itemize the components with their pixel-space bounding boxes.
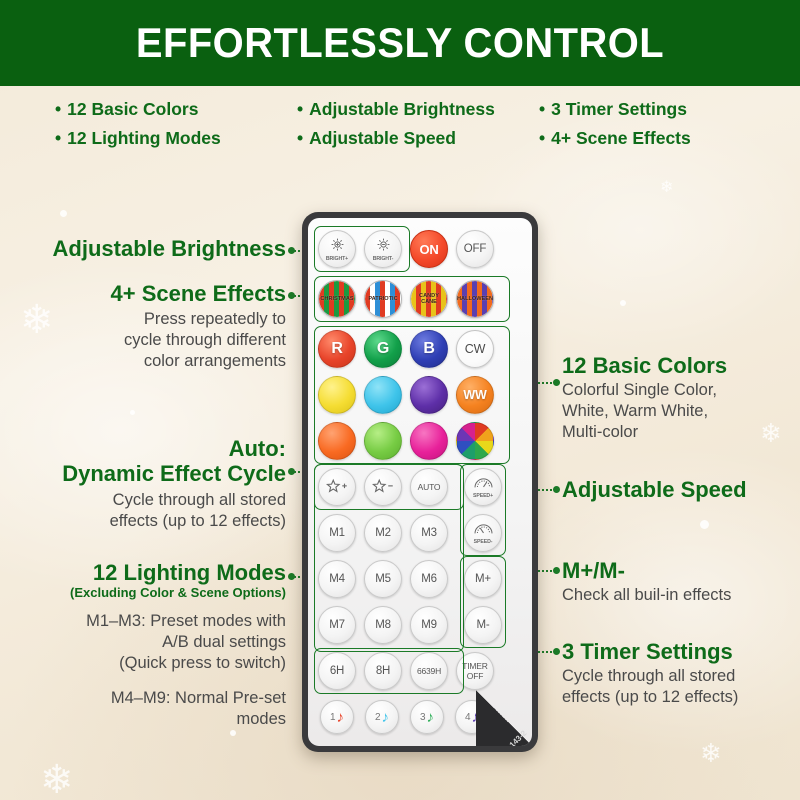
color-multicolor-button[interactable] — [456, 422, 494, 460]
feature-column: •3 Timer Settings •4+ Scene Effects — [521, 95, 763, 165]
power-off-button[interactable]: OFF — [456, 230, 494, 268]
snow-speck — [230, 730, 236, 736]
modes-row-3: M7 M8 M9 — [318, 606, 448, 644]
connector-dot — [553, 379, 560, 386]
feature-label: 12 Lighting Modes — [67, 128, 221, 148]
bullet-icon: • — [539, 128, 545, 148]
color-green-label: G — [377, 340, 389, 358]
annotation-body: Colorful Single Color, White, Warm White… — [562, 380, 798, 443]
memory-minus-label: M- — [476, 619, 489, 631]
annotation-scene-effects: 4+ Scene Effects Press repeatedly to cyc… — [20, 281, 286, 372]
gauge-down-icon — [473, 522, 494, 538]
bullet-icon: • — [297, 99, 303, 119]
color-cool-white-label: CW — [465, 342, 485, 356]
color-red-label: R — [331, 340, 342, 358]
color-cyan-button[interactable] — [364, 376, 402, 414]
connector-dot — [553, 567, 560, 574]
auto-label: AUTO — [418, 482, 441, 492]
mode-m4-label: M4 — [329, 573, 345, 585]
annotation-body-secondary: M4–M9: Normal Pre-set modes — [10, 688, 286, 730]
color-row-1: R G B CW — [318, 330, 494, 368]
timer-off-label-line1: TIMER — [462, 661, 487, 671]
color-cool-white-button[interactable]: CW — [456, 330, 494, 368]
timer-8h-button[interactable]: 8H — [364, 652, 402, 690]
timer-8h-label: 8H — [376, 665, 390, 677]
feature-column: •12 Basic Colors •12 Lighting Modes — [37, 95, 279, 165]
remote-faceplate: BRIGHT+ BRIGHT- — [308, 218, 532, 746]
feature-bullets: •12 Basic Colors •12 Lighting Modes •Adj… — [0, 95, 800, 165]
annotation-body: Cycle through all stored effects (up to … — [562, 666, 798, 708]
mode-m1-label: M1 — [329, 527, 345, 539]
mode-m3-button[interactable]: M3 — [410, 514, 448, 552]
color-red-button[interactable]: R — [318, 330, 356, 368]
annotation-basic-colors: 12 Basic Colors Colorful Single Color, W… — [562, 353, 798, 443]
color-blue-label: B — [423, 340, 434, 358]
feature-item: •12 Lighting Modes — [55, 124, 279, 153]
star-minus-icon — [371, 478, 395, 496]
color-warm-white-button[interactable]: WW — [456, 376, 494, 414]
color-row-3 — [318, 422, 494, 460]
mode-m5-button[interactable]: M5 — [364, 560, 402, 598]
bullet-icon: • — [55, 128, 61, 148]
feature-label: 12 Basic Colors — [67, 99, 198, 119]
bright-down-label: BRIGHT- — [373, 256, 394, 262]
speed-down-label: SPEED- — [474, 539, 493, 545]
bullet-icon: • — [297, 128, 303, 148]
annotation-title-line1: Auto: — [20, 436, 286, 461]
brightness-up-icon — [330, 237, 345, 255]
color-lime-button[interactable] — [364, 422, 402, 460]
connector-dot — [553, 648, 560, 655]
feature-item: •4+ Scene Effects — [539, 124, 763, 153]
mode-m2-button[interactable]: M2 — [364, 514, 402, 552]
color-blue-button[interactable]: B — [410, 330, 448, 368]
header-banner: EFFORTLESSLY CONTROL — [0, 0, 800, 86]
power-row: BRIGHT+ BRIGHT- — [318, 230, 494, 268]
feature-label: 3 Timer Settings — [551, 99, 687, 119]
annotation-body: Check all buil-in effects — [562, 585, 798, 606]
mode-m5-label: M5 — [375, 573, 391, 585]
music-note-icon: ♪ — [337, 709, 345, 726]
music-1-label: 1 — [330, 712, 336, 723]
mode-m4-button[interactable]: M4 — [318, 560, 356, 598]
modes-row-1: M1 M2 M3 — [318, 514, 448, 552]
timer-6639h-label: 6639H — [417, 666, 441, 676]
annotation-title: 3 Timer Settings — [562, 639, 798, 664]
annotation-lighting-modes: 12 Lighting Modes (Excluding Color & Sce… — [10, 560, 286, 730]
mode-m6-button[interactable]: M6 — [410, 560, 448, 598]
color-row-2: WW — [318, 376, 494, 414]
music-note-icon: ♪ — [382, 709, 390, 726]
model-corner-tag: 143-2 — [476, 690, 532, 746]
mode-m8-button[interactable]: M8 — [364, 606, 402, 644]
mode-m8-label: M8 — [375, 619, 391, 631]
music-1-button[interactable]: 1 ♪ — [320, 700, 354, 734]
power-off-label: OFF — [464, 243, 486, 255]
mode-m9-label: M9 — [421, 619, 437, 631]
annotation-body: Cycle through all stored effects (up to … — [20, 490, 286, 532]
star-plus-icon — [325, 478, 349, 496]
annotation-title: M+/M- — [562, 558, 798, 583]
annotation-memory-buttons: M+/M- Check all buil-in effects — [562, 558, 798, 606]
music-2-button[interactable]: 2 ♪ — [365, 700, 399, 734]
bullet-icon: • — [55, 99, 61, 119]
timer-off-label-line2: OFF — [467, 671, 483, 681]
memory-plus-button[interactable]: M+ — [464, 560, 502, 598]
annotation-adjustable-brightness: Adjustable Brightness — [20, 236, 286, 261]
annotation-auto-cycle: Auto: Dynamic Effect Cycle Cycle through… — [20, 436, 286, 532]
scene-candy-cane-label: CANDY CANE — [411, 293, 447, 306]
scene-christmas-label: CHRISTMAS — [320, 296, 353, 302]
bright-down-button[interactable]: BRIGHT- — [364, 230, 402, 268]
star-plus-button[interactable] — [318, 468, 356, 506]
scene-row: CHRISTMAS PATRIOTIC CANDY CANE HALLOWEEN — [318, 280, 494, 318]
color-magenta-button[interactable] — [410, 422, 448, 460]
speed-down-button[interactable]: SPEED- — [464, 514, 502, 552]
color-yellow-button[interactable] — [318, 376, 356, 414]
star-minus-button[interactable] — [364, 468, 402, 506]
page-title: EFFORTLESSLY CONTROL — [136, 19, 664, 67]
model-label: 143-2 — [507, 729, 528, 746]
power-on-label: ON — [419, 242, 438, 257]
feature-label: Adjustable Speed — [309, 128, 456, 148]
feature-item: •Adjustable Speed — [297, 124, 521, 153]
music-4-label: 4 — [465, 712, 471, 723]
annotation-title: Adjustable Speed — [562, 477, 798, 502]
snowflake-icon: ❄ — [40, 760, 74, 800]
scene-patriotic-button[interactable]: PATRIOTIC — [364, 280, 402, 318]
mode-m3-label: M3 — [421, 527, 437, 539]
remote-control-device: BRIGHT+ BRIGHT- — [302, 212, 538, 752]
annotation-body: Press repeatedly to cycle through differ… — [20, 309, 286, 372]
speed-up-button[interactable]: SPEED+ — [464, 468, 502, 506]
auto-button[interactable]: AUTO — [410, 468, 448, 506]
color-warm-white-label: WW — [463, 388, 486, 402]
annotation-adjustable-speed: Adjustable Speed — [562, 477, 798, 502]
snow-speck — [620, 300, 626, 306]
brightness-down-icon — [376, 237, 391, 255]
speed-up-label: SPEED+ — [473, 493, 493, 499]
feature-item: •Adjustable Brightness — [297, 95, 521, 124]
connector-dot — [553, 486, 560, 493]
timer-6h-label: 6H — [330, 665, 344, 677]
mode-m2-label: M2 — [375, 527, 391, 539]
memory-plus-label: M+ — [475, 573, 491, 585]
feature-column: •Adjustable Brightness •Adjustable Speed — [279, 95, 521, 165]
mode-m1-button[interactable]: M1 — [318, 514, 356, 552]
snow-speck — [60, 210, 67, 217]
scene-christmas-button[interactable]: CHRISTMAS — [318, 280, 356, 318]
infographic-canvas: ❄ ❄ ❄ ❄ ❄ EFFORTLESSLY CONTROL •12 Basic… — [0, 0, 800, 800]
scene-patriotic-label: PATRIOTIC — [368, 296, 397, 302]
color-green-button[interactable]: G — [364, 330, 402, 368]
color-purple-button[interactable] — [410, 376, 448, 414]
annotation-title: 12 Lighting Modes — [10, 560, 286, 585]
color-orange-button[interactable] — [318, 422, 356, 460]
effects-row: AUTO — [318, 468, 448, 506]
mode-m7-label: M7 — [329, 619, 345, 631]
modes-row-2: M4 M5 M6 — [318, 560, 448, 598]
annotation-timer-settings: 3 Timer Settings Cycle through all store… — [562, 639, 798, 708]
annotation-title: Adjustable Brightness — [20, 236, 286, 261]
annotation-title: 12 Basic Colors — [562, 353, 798, 378]
snow-speck — [130, 410, 135, 415]
annotation-body-primary: M1–M3: Preset modes with A/B dual settin… — [10, 611, 286, 674]
bright-up-label: BRIGHT+ — [326, 256, 348, 262]
gauge-up-icon — [473, 476, 494, 492]
feature-label: Adjustable Brightness — [309, 99, 495, 119]
memory-minus-button[interactable]: M- — [464, 606, 502, 644]
music-3-button[interactable]: 3 ♪ — [410, 700, 444, 734]
feature-item: •3 Timer Settings — [539, 95, 763, 124]
music-3-label: 3 — [420, 712, 426, 723]
music-row: 1 ♪ 2 ♪ 3 ♪ — [320, 700, 489, 734]
bright-up-button[interactable]: BRIGHT+ — [318, 230, 356, 268]
bullet-icon: • — [539, 99, 545, 119]
mode-m7-button[interactable]: M7 — [318, 606, 356, 644]
feature-item: •12 Basic Colors — [55, 95, 279, 124]
snow-speck — [700, 520, 709, 529]
timer-off-button[interactable]: TIMER OFF — [456, 652, 494, 690]
power-on-button[interactable]: ON — [410, 230, 448, 268]
snowflake-icon: ❄ — [700, 740, 722, 766]
timer-6639h-button[interactable]: 6639H — [410, 652, 448, 690]
snowflake-icon: ❄ — [660, 180, 673, 196]
music-2-label: 2 — [375, 712, 381, 723]
annotation-subtitle: (Excluding Color & Scene Options) — [10, 585, 286, 601]
timer-row: 6H 8H 6639H TIMER OFF — [318, 652, 494, 690]
mode-m9-button[interactable]: M9 — [410, 606, 448, 644]
music-note-icon: ♪ — [427, 709, 435, 726]
timer-6h-button[interactable]: 6H — [318, 652, 356, 690]
feature-label: 4+ Scene Effects — [551, 128, 691, 148]
scene-candy-cane-button[interactable]: CANDY CANE — [410, 280, 448, 318]
mode-m6-label: M6 — [421, 573, 437, 585]
scene-halloween-button[interactable]: HALLOWEEN — [456, 280, 494, 318]
annotation-title: 4+ Scene Effects — [20, 281, 286, 306]
scene-halloween-label: HALLOWEEN — [457, 296, 493, 302]
annotation-title-line2: Dynamic Effect Cycle — [20, 461, 286, 486]
